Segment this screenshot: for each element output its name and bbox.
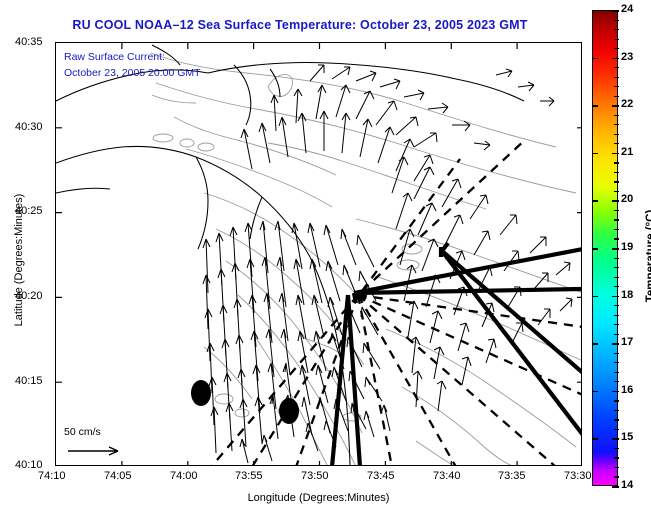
annotation-line-1: Raw Surface Current: — [64, 51, 165, 63]
xtick-label: 73:50 — [301, 470, 329, 482]
ytick-label: 40:15 — [15, 375, 43, 387]
radar-range-lines — [211, 139, 581, 465]
colorbar-tick-label: 24 — [621, 3, 633, 15]
colorbar-tick-label: 19 — [621, 241, 633, 253]
xtick-label: 73:55 — [235, 470, 263, 482]
xtick-label: 73:30 — [564, 470, 592, 482]
colorbar-tick-label: 23 — [621, 51, 633, 63]
xtick-label: 73:40 — [433, 470, 461, 482]
colorbar-tick-label: 22 — [621, 98, 633, 110]
colorbar-tick-label: 20 — [621, 193, 633, 205]
ytick-label: 40:30 — [15, 121, 43, 133]
colorbar-tick-label: 15 — [621, 431, 633, 443]
scale-bar-arrow — [66, 443, 136, 459]
colorbar-title: Temperature (°C) — [645, 191, 651, 321]
colorbar-tick-label: 14 — [621, 479, 633, 491]
map-clip: Raw Surface Current: October 23, 2005 20… — [56, 43, 581, 465]
xtick-label: 73:35 — [498, 470, 526, 482]
colorbar-tick-label: 18 — [621, 289, 633, 301]
figure-title: RU COOL NOAA–12 Sea Surface Temperature:… — [0, 18, 600, 32]
annotation-line-2: October 23, 2005 20:00 GMT — [64, 67, 201, 79]
ytick-label: 40:10 — [15, 459, 43, 471]
scale-bar-label: 50 cm/s — [64, 426, 101, 438]
colorbar-tick-label: 16 — [621, 384, 633, 396]
sst-contours — [151, 53, 581, 465]
map-plot-area: Raw Surface Current: October 23, 2005 20… — [55, 42, 582, 466]
xtick-label: 73:45 — [367, 470, 395, 482]
map-overlay-svg — [56, 43, 581, 465]
xtick-label: 74:05 — [104, 470, 132, 482]
x-axis-title: Longitude (Degrees:Minutes) — [55, 492, 582, 504]
xtick-label: 74:00 — [170, 470, 198, 482]
colorbar-tick-label: 17 — [621, 336, 633, 348]
ytick-label: 40:35 — [15, 36, 43, 48]
xtick-label: 74:10 — [38, 470, 66, 482]
sst-current-map-figure: RU COOL NOAA–12 Sea Surface Temperature:… — [0, 0, 651, 519]
colorbar-tick-label: 21 — [621, 146, 633, 158]
y-axis-title: Latitude (Degrees:Minutes) — [13, 145, 25, 375]
